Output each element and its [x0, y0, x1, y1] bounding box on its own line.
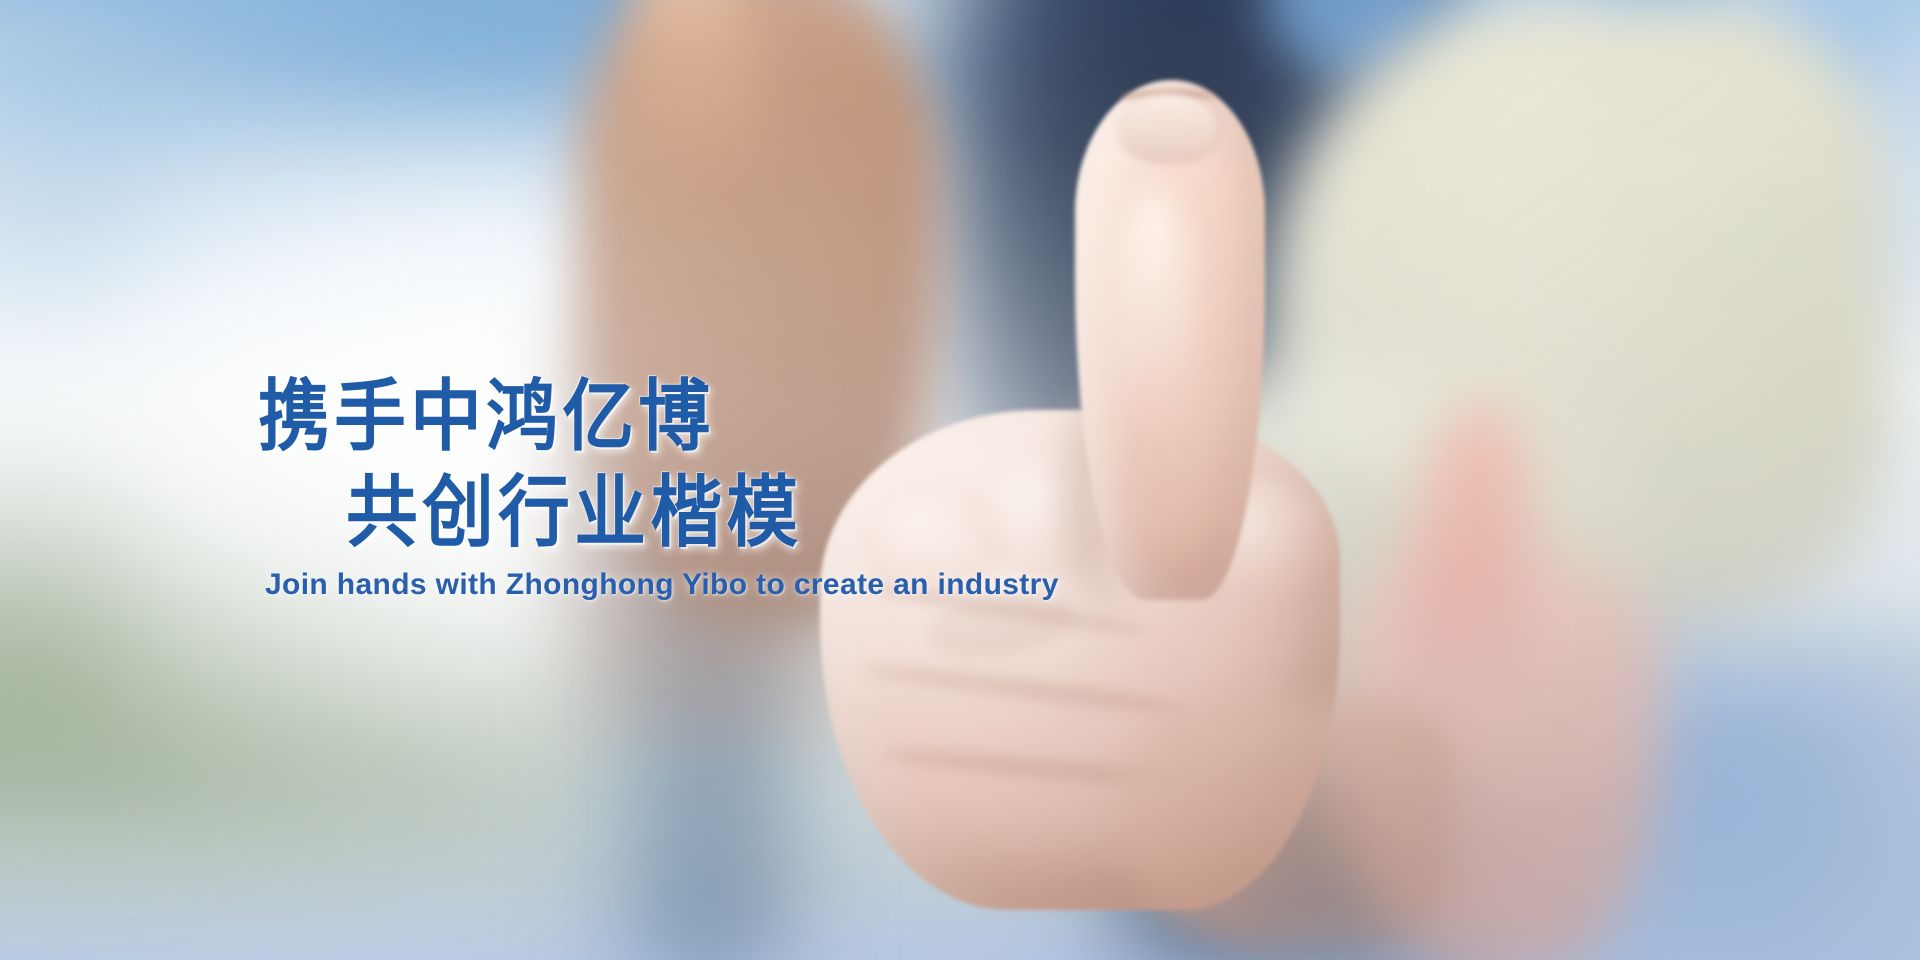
hero-banner: 携手中鸿亿博 共创行业楷模 Join hands with Zhonghong …	[0, 0, 1920, 960]
thumbs-up-hand	[820, 80, 1440, 910]
thumb-highlight	[1120, 190, 1190, 450]
wrist	[1120, 700, 1450, 950]
thumbnail	[1120, 94, 1216, 160]
banner-background-photo	[0, 0, 1920, 960]
